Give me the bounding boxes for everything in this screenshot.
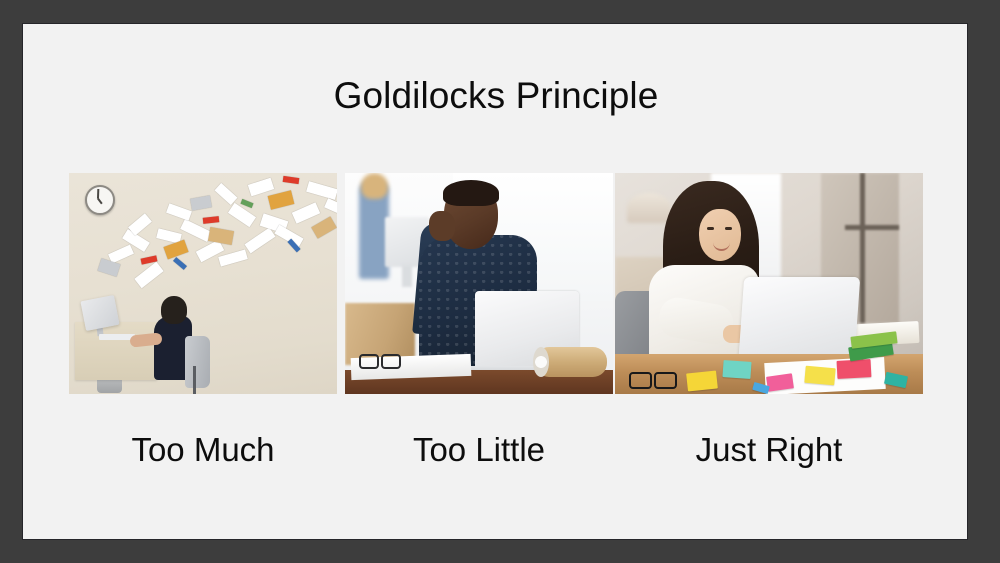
photo-too-little-inner [345, 173, 613, 394]
flying-paper [166, 203, 192, 221]
flying-paper [248, 178, 275, 197]
caption-too-much: Too Much [69, 431, 337, 469]
shelf-board [845, 225, 899, 230]
sticky-note [722, 360, 751, 379]
photo-just-right[interactable] [615, 173, 923, 394]
flying-paper [190, 195, 212, 210]
wall-clock-icon [85, 185, 115, 215]
lamp [627, 193, 671, 223]
photo-too-much-inner [69, 173, 337, 394]
flying-paper [311, 216, 337, 238]
person-hand [429, 211, 455, 241]
paper-roll [535, 347, 607, 377]
computer-monitor [80, 295, 119, 331]
person-face [699, 209, 741, 261]
image-band [23, 173, 968, 416]
flying-paper [268, 190, 295, 209]
person-head [161, 296, 187, 324]
photo-too-little[interactable] [345, 173, 613, 394]
flying-paper [173, 257, 187, 270]
sticky-note [804, 366, 835, 386]
person-eye-right [725, 227, 732, 230]
flying-paper [244, 228, 275, 254]
person-hair [443, 180, 499, 206]
background-person-hair [361, 173, 388, 199]
photo-too-much[interactable] [69, 173, 337, 394]
flying-paper [203, 216, 220, 224]
sticky-note [837, 359, 872, 379]
flying-paper [134, 262, 163, 289]
person-eye-left [707, 227, 714, 230]
flying-paper [283, 176, 300, 184]
flying-paper [306, 181, 337, 200]
shelf-post [860, 173, 865, 323]
page-title: Goldilocks Principle [23, 76, 968, 117]
flying-paper [241, 199, 254, 208]
caption-too-little: Too Little [345, 431, 613, 469]
flying-paper [218, 249, 248, 266]
caption-just-right: Just Right [615, 431, 923, 469]
eyeglasses-icon [629, 372, 677, 386]
sticky-note [686, 370, 718, 391]
presentation-frame: Goldilocks Principle [0, 0, 1000, 563]
slide-canvas: Goldilocks Principle [22, 23, 968, 540]
flying-paper [324, 198, 337, 218]
flying-paper [128, 213, 152, 236]
office-chair [185, 336, 210, 388]
photo-just-right-inner [615, 173, 923, 394]
eyeglasses-icon [359, 354, 401, 366]
flying-paper [292, 202, 321, 224]
background-monitor-stand [402, 265, 412, 287]
chair-post [193, 366, 196, 394]
